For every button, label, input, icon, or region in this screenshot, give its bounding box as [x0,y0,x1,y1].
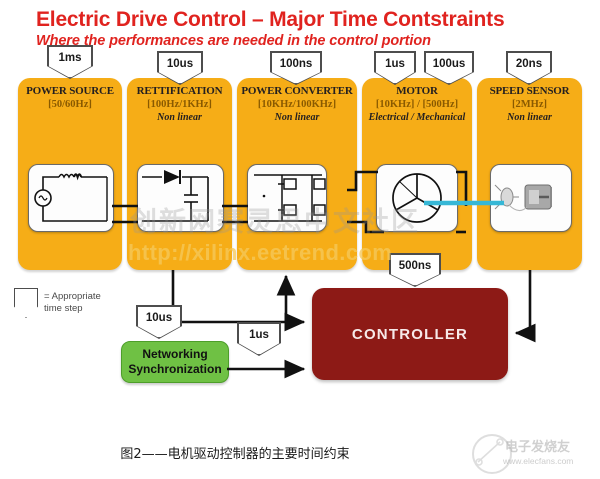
motor-rotor-circle-icon [377,165,457,231]
networking-label-line1: Networking [128,347,221,362]
stage-nonlinear-rettification: Non linear [127,112,232,123]
figure-caption: 图2——电机驱动控制器的主要时间约束 [0,443,470,462]
encoder-disc-icon [491,165,571,231]
stage-header-power-source: POWER SOURCE [18,85,122,97]
time-step-badge-networking-input: 10us [137,306,181,338]
circuit-card-power-converter [247,164,327,232]
stage-frequency-speed-sensor: [2MHz] [477,99,582,110]
stage-header-speed-sensor: SPEED SENSOR [477,85,582,97]
stage-frequency-power-source: [50/60Hz] [18,99,122,110]
igbt-half-bridge-icon [248,165,326,231]
stage-header-rettification: RETTIFICATION [127,85,232,97]
legend-line-2: time step [44,303,101,315]
stage-nonlinear-power-converter: Non linear [237,112,357,123]
controller-label: CONTROLLER [352,326,468,343]
stage-power-source: POWER SOURCE [50/60Hz] [18,78,122,270]
diagram-root: Electric Drive Control – Major Time Cont… [0,0,600,479]
page-title: Electric Drive Control – Major Time Cont… [36,8,576,32]
legend-pentagon-icon [14,288,38,318]
legend-line-1: = Appropriate [44,291,101,303]
time-step-badge-networking-output: 1us [238,323,280,355]
stage-nonlinear-speed-sensor: Non linear [477,112,582,123]
stage-header-motor: MOTOR [362,85,472,97]
watermark-logo-url: www.elecfans.com [503,456,573,466]
circuit-card-power-source [28,164,114,232]
stage-speed-sensor: SPEED SENSOR [2MHz] Non linear [477,78,582,270]
circuit-card-speed-sensor [490,164,572,232]
page-subtitle: Where the performances are needed in the… [36,33,576,49]
circuit-card-motor [376,164,458,232]
circuit-card-rettification [137,164,224,232]
stage-frequency-power-converter: [10KHz/100KHz] [237,99,357,110]
networking-synchronization-block[interactable]: Networking Synchronization [121,341,229,383]
stage-rettification: RETTIFICATION [100Hz/1KHz] Non linear [127,78,232,270]
time-step-badge-power-source: 1ms [48,46,92,78]
legend-label: = Appropriate time step [44,291,101,315]
stage-header-power-converter: POWER CONVERTER [237,85,357,97]
stage-frequency-motor: [10KHz] / [500Hz] [362,99,472,110]
stage-frequency-rettification: [100Hz/1KHz] [127,99,232,110]
networking-label-line2: Synchronization [128,362,221,377]
controller-block[interactable]: CONTROLLER [312,288,508,380]
watermark-logo-text: 电子发烧友 [505,436,570,455]
stage-nonlinear-motor: Electrical / Mechanical [362,112,472,123]
stage-motor: MOTOR [10KHz] / [500Hz] Electrical / Mec… [362,78,472,270]
stage-power-converter: POWER CONVERTER [10KHz/100KHz] Non linea… [237,78,357,270]
diode-rectifier-capacitor-icon [138,165,223,231]
time-step-badge-motor-control: 500ns [390,254,440,286]
ac-source-with-inductors-icon [29,165,113,231]
